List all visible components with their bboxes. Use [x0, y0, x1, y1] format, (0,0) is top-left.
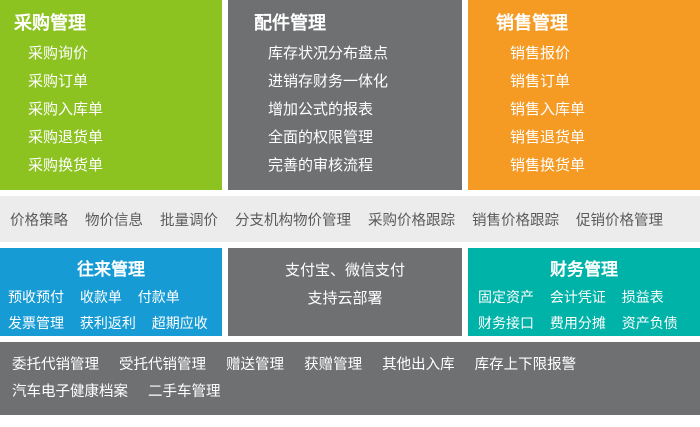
bottom-item-6[interactable]: 汽车电子健康档案: [12, 384, 128, 400]
panel-purchase-item-2[interactable]: 采购入库单: [0, 96, 222, 124]
finance-item-0[interactable]: 固定资产: [478, 289, 534, 305]
price-strip-item-2[interactable]: 批量调价: [160, 209, 218, 230]
panel-finance-line-1: 固定资产 会计凭证 损益表: [468, 284, 700, 310]
exchange-item-5[interactable]: 超期应收: [152, 315, 208, 331]
panel-parts-item-4[interactable]: 完善的审核流程: [228, 152, 462, 180]
exchange-item-2[interactable]: 付款单: [138, 289, 180, 305]
panel-purchase-title: 采购管理: [0, 10, 222, 36]
bottom-item-1[interactable]: 受托代销管理: [119, 357, 206, 373]
bottom-item-2[interactable]: 赠送管理: [226, 357, 284, 373]
panel-sales-item-4[interactable]: 销售换货单: [468, 152, 700, 180]
panel-parts-item-2[interactable]: 增加公式的报表: [228, 96, 462, 124]
panel-exchange-management[interactable]: 往来管理 预收预付 收款单 付款单 发票管理 获利返利 超期应收: [0, 248, 222, 336]
panel-exchange-line-1: 预收预付 收款单 付款单: [0, 284, 222, 310]
bottom-item-3[interactable]: 获赠管理: [304, 357, 362, 373]
panel-parts-item-1[interactable]: 进销存财务一体化: [228, 68, 462, 96]
bottom-line-1: 委托代销管理 受托代销管理 赠送管理 获赠管理 其他出入库 库存上下限报警: [12, 352, 700, 379]
panel-parts-item-0[interactable]: 库存状况分布盘点: [228, 40, 462, 68]
finance-item-4[interactable]: 费用分摊: [550, 315, 606, 331]
finance-item-2[interactable]: 损益表: [622, 289, 664, 305]
panel-exchange-title: 往来管理: [0, 257, 222, 282]
payment-line-1: 支付宝、微信支付: [228, 257, 462, 285]
payment-line-2: 支持云部署: [228, 285, 462, 313]
panel-purchase-item-3[interactable]: 采购退货单: [0, 124, 222, 152]
panel-parts-item-3[interactable]: 全面的权限管理: [228, 124, 462, 152]
panel-sales-management[interactable]: 销售管理 销售报价 销售订单 销售入库单 销售退货单 销售换货单: [468, 0, 700, 190]
panel-finance-title: 财务管理: [468, 257, 700, 282]
panel-exchange-line-2: 发票管理 获利返利 超期应收: [0, 310, 222, 336]
bottom-item-4[interactable]: 其他出入库: [382, 357, 455, 373]
panel-sales-item-3[interactable]: 销售退货单: [468, 124, 700, 152]
bottom-item-5[interactable]: 库存上下限报警: [475, 357, 577, 373]
panel-parts-title: 配件管理: [228, 10, 462, 36]
price-strip-item-3[interactable]: 分支机构物价管理: [235, 209, 351, 230]
bottom-line-2: 汽车电子健康档案 二手车管理: [12, 379, 700, 406]
panel-sales-item-1[interactable]: 销售订单: [468, 68, 700, 96]
panel-sales-item-0[interactable]: 销售报价: [468, 40, 700, 68]
exchange-item-4[interactable]: 获利返利: [80, 315, 136, 331]
bottom-item-0[interactable]: 委托代销管理: [12, 357, 99, 373]
finance-item-5[interactable]: 资产负债: [622, 315, 678, 331]
bottom-item-7[interactable]: 二手车管理: [148, 384, 221, 400]
panel-payment-support[interactable]: 支付宝、微信支付 支持云部署: [228, 248, 462, 336]
exchange-item-3[interactable]: 发票管理: [8, 315, 64, 331]
exchange-item-0[interactable]: 预收预付: [8, 289, 64, 305]
top-panels-row: 采购管理 采购询价 采购订单 采购入库单 采购退货单 采购换货单 配件管理 库存…: [0, 0, 700, 190]
price-strip-item-6[interactable]: 促销价格管理: [576, 209, 663, 230]
panel-sales-item-2[interactable]: 销售入库单: [468, 96, 700, 124]
panel-finance-management[interactable]: 财务管理 固定资产 会计凭证 损益表 财务接口 费用分摊 资产负债: [468, 248, 700, 336]
middle-panels-row: 往来管理 预收预付 收款单 付款单 发票管理 获利返利 超期应收 支付宝、微信支…: [0, 248, 700, 336]
panel-consignment-and-vehicle[interactable]: 委托代销管理 受托代销管理 赠送管理 获赠管理 其他出入库 库存上下限报警 汽车…: [0, 342, 700, 415]
diagram-board: 采购管理 采购询价 采购订单 采购入库单 采购退货单 采购换货单 配件管理 库存…: [0, 0, 700, 427]
finance-item-3[interactable]: 财务接口: [478, 315, 534, 331]
price-strip-item-5[interactable]: 销售价格跟踪: [472, 209, 559, 230]
finance-item-1[interactable]: 会计凭证: [550, 289, 606, 305]
price-strip-item-0[interactable]: 价格策略: [10, 209, 68, 230]
panel-finance-line-2: 财务接口 费用分摊 资产负债: [468, 310, 700, 336]
panel-sales-title: 销售管理: [468, 10, 700, 36]
panel-purchase-management[interactable]: 采购管理 采购询价 采购订单 采购入库单 采购退货单 采购换货单: [0, 0, 222, 190]
panel-parts-management[interactable]: 配件管理 库存状况分布盘点 进销存财务一体化 增加公式的报表 全面的权限管理 完…: [228, 0, 462, 190]
panel-purchase-item-4[interactable]: 采购换货单: [0, 152, 222, 180]
panel-purchase-item-0[interactable]: 采购询价: [0, 40, 222, 68]
price-strategy-strip: 价格策略 物价信息 批量调价 分支机构物价管理 采购价格跟踪 销售价格跟踪 促销…: [0, 196, 700, 242]
panel-purchase-item-1[interactable]: 采购订单: [0, 68, 222, 96]
exchange-item-1[interactable]: 收款单: [80, 289, 122, 305]
price-strip-item-1[interactable]: 物价信息: [85, 209, 143, 230]
price-strip-item-4[interactable]: 采购价格跟踪: [368, 209, 455, 230]
